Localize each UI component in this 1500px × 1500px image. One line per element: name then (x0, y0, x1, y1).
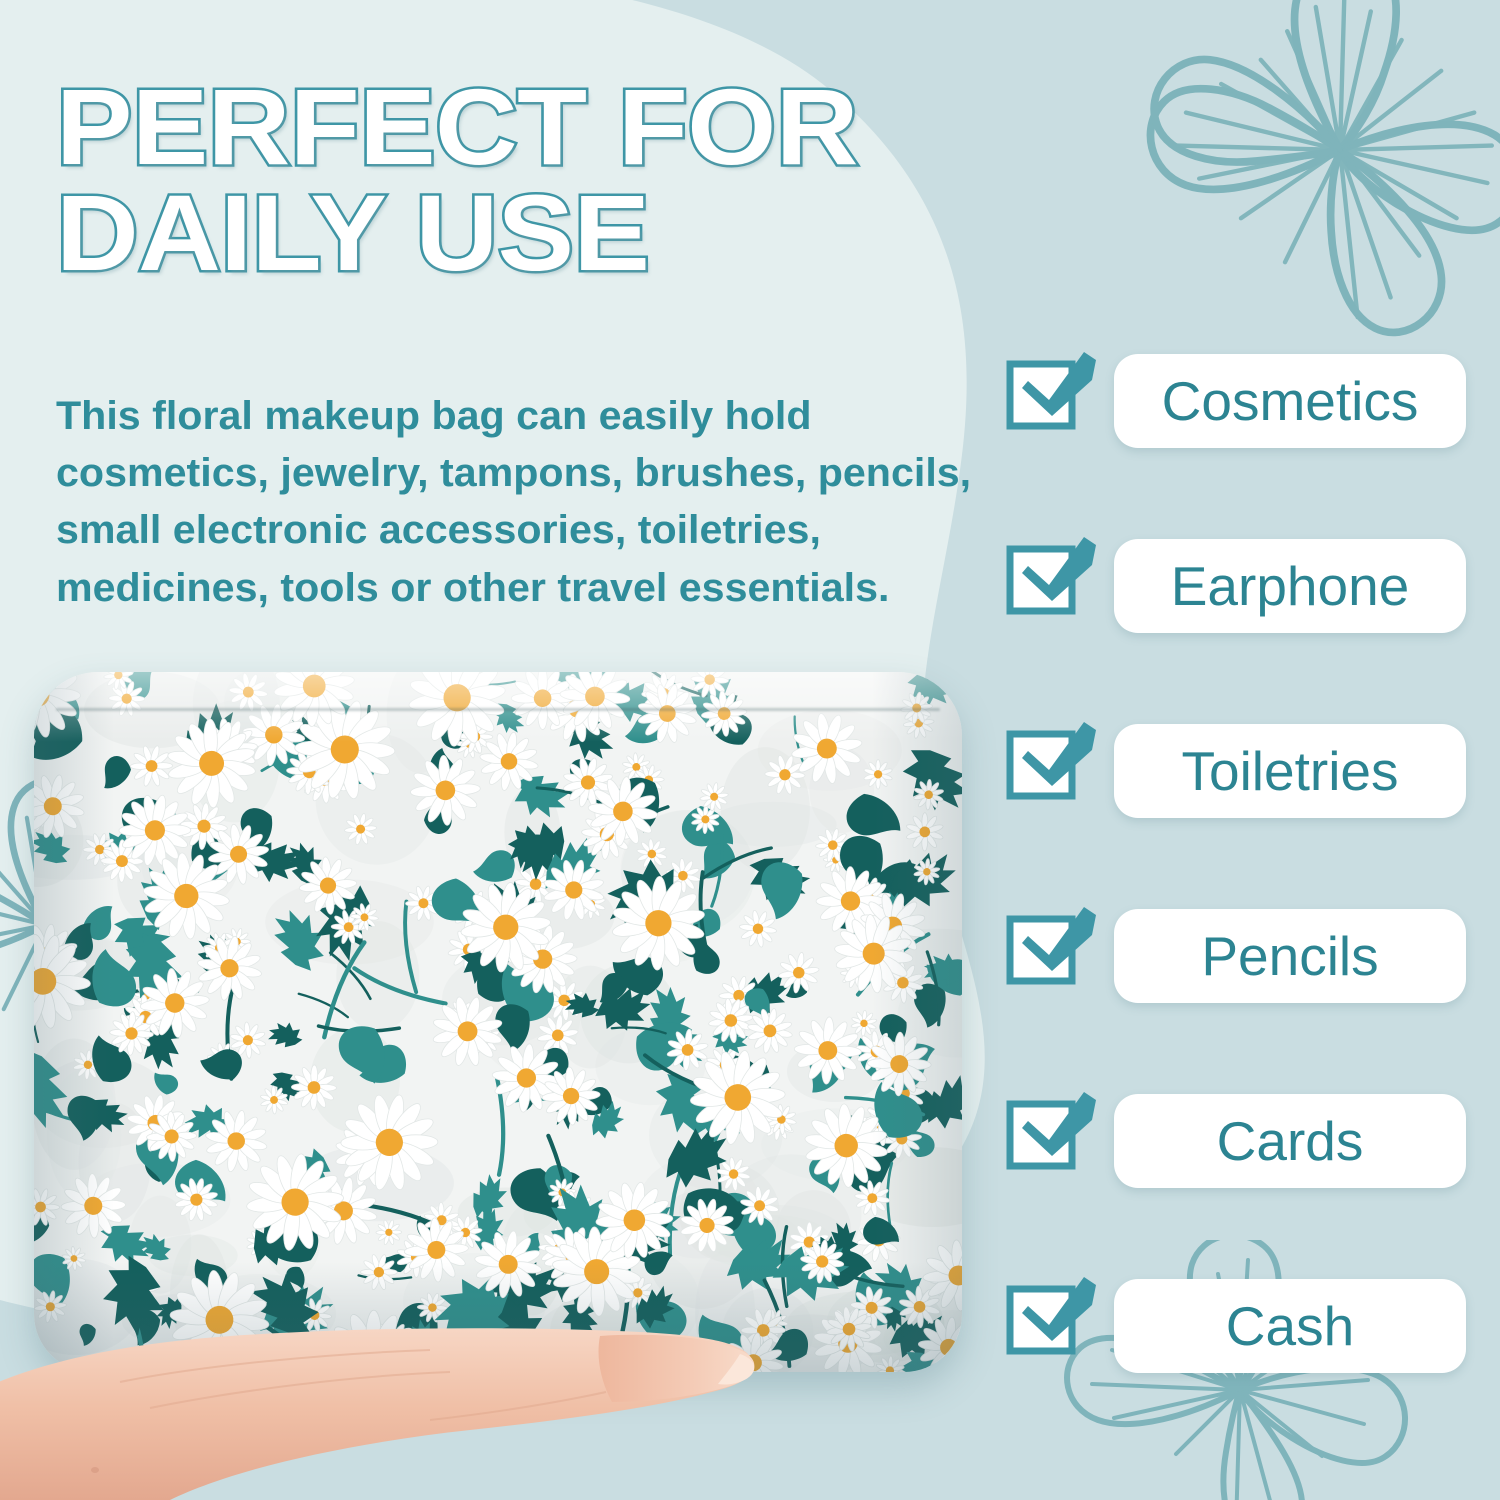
bag-highlight (34, 672, 962, 742)
checklist-item-label: Toiletries (1181, 739, 1398, 803)
daisy-pattern (34, 672, 962, 1372)
checklist-item-label: Pencils (1201, 924, 1378, 988)
checklist-item-label: Earphone (1171, 554, 1410, 618)
bag-body (34, 672, 962, 1372)
checked-checkbox-icon[interactable] (1006, 720, 1102, 804)
checklist-item[interactable]: Toiletries (1006, 720, 1476, 905)
checked-checkbox-icon[interactable] (1006, 1090, 1102, 1174)
bag-shadow-bottom (34, 1262, 962, 1372)
checked-checkbox-icon[interactable] (1006, 1275, 1102, 1359)
checked-checkbox-icon[interactable] (1006, 535, 1102, 619)
poster-canvas: PERFECT FOR DAILY USE This floral makeup… (0, 0, 1500, 1500)
feature-checklist: CosmeticsEarphoneToiletriesPencilsCardsC… (1006, 350, 1476, 1460)
description-text: This floral makeup bag can easily hold c… (56, 388, 1029, 617)
checklist-item[interactable]: Cash (1006, 1275, 1476, 1460)
bag-shadow-right (872, 672, 962, 1372)
hibiscus-flower-icon (0, 690, 210, 1160)
makeup-bag (34, 672, 962, 1372)
checklist-item[interactable]: Cosmetics (1006, 350, 1476, 535)
checklist-item-label: Cards (1217, 1109, 1364, 1173)
checklist-item-pill[interactable]: Earphone (1114, 539, 1466, 633)
product-image (0, 630, 1000, 1500)
checklist-item-pill[interactable]: Pencils (1114, 909, 1466, 1003)
checked-checkbox-icon[interactable] (1006, 350, 1102, 434)
checklist-item[interactable]: Earphone (1006, 535, 1476, 720)
hand-holding-bag (0, 1270, 820, 1500)
page-title: PERFECT FOR DAILY USE (56, 74, 1116, 286)
checklist-item-pill[interactable]: Cash (1114, 1279, 1466, 1373)
headline-line-2: DAILY USE (56, 180, 1116, 286)
bag-zipper-seam (56, 708, 940, 711)
checklist-item-label: Cash (1226, 1294, 1354, 1358)
hibiscus-flower-icon (1120, 0, 1500, 370)
checked-checkbox-icon[interactable] (1006, 905, 1102, 989)
checklist-item[interactable]: Cards (1006, 1090, 1476, 1275)
bag-shadow-left (34, 672, 114, 1372)
checklist-item-pill[interactable]: Cards (1114, 1094, 1466, 1188)
headline-line-1: PERFECT FOR (56, 66, 858, 187)
checklist-item-pill[interactable]: Cosmetics (1114, 354, 1466, 448)
checklist-item-label: Cosmetics (1162, 369, 1419, 433)
checklist-item[interactable]: Pencils (1006, 905, 1476, 1090)
checklist-item-pill[interactable]: Toiletries (1114, 724, 1466, 818)
